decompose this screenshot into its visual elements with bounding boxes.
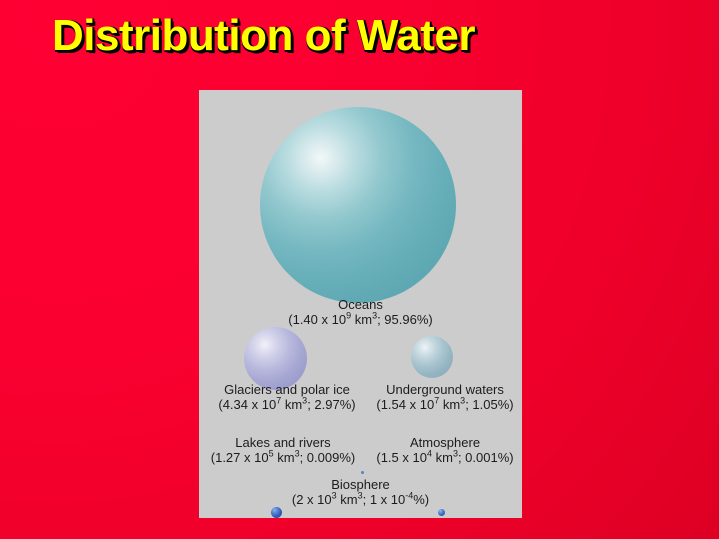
label-lakes-and-rivers: Lakes and rivers (1.27 x 105 km3; 0.009%… (199, 435, 367, 465)
label-lakes-value: (1.27 x 105 km3; 0.009%) (199, 450, 367, 465)
label-underground-name: Underground waters (369, 382, 521, 397)
sphere-underground-waters (411, 336, 453, 378)
label-biosphere-value: (2 x 103 km3; 1 x 10-4%) (199, 492, 522, 507)
label-oceans-name: Oceans (199, 297, 522, 312)
label-glaciers-name: Glaciers and polar ice (201, 382, 373, 397)
label-underground-waters: Underground waters (1.54 x 107 km3; 1.05… (369, 382, 521, 412)
label-biosphere: Biosphere (2 x 103 km3; 1 x 10-4%) (199, 477, 522, 507)
label-oceans: Oceans (1.40 x 109 km3; 95.96%) (199, 297, 522, 327)
sphere-biosphere (361, 471, 364, 474)
label-atmosphere-name: Atmosphere (369, 435, 521, 450)
sphere-atmosphere (438, 509, 445, 516)
water-distribution-diagram: Oceans (1.40 x 109 km3; 95.96%) Glaciers… (199, 90, 522, 518)
label-underground-value: (1.54 x 107 km3; 1.05%) (369, 397, 521, 412)
label-glaciers-value: (4.34 x 107 km3; 2.97%) (201, 397, 373, 412)
page-title: Distribution of Water (52, 10, 475, 62)
label-glaciers-and-polar-ice: Glaciers and polar ice (4.34 x 107 km3; … (201, 382, 373, 412)
label-lakes-name: Lakes and rivers (199, 435, 367, 450)
label-atmosphere-value: (1.5 x 104 km3; 0.001%) (369, 450, 521, 465)
label-oceans-value: (1.40 x 109 km3; 95.96%) (199, 312, 522, 327)
sphere-lakes-and-rivers (271, 507, 282, 518)
slide: Distribution of Water Oceans (1.40 x 109… (0, 0, 719, 539)
sphere-glaciers (244, 327, 307, 390)
label-atmosphere: Atmosphere (1.5 x 104 km3; 0.001%) (369, 435, 521, 465)
sphere-oceans (260, 107, 456, 303)
